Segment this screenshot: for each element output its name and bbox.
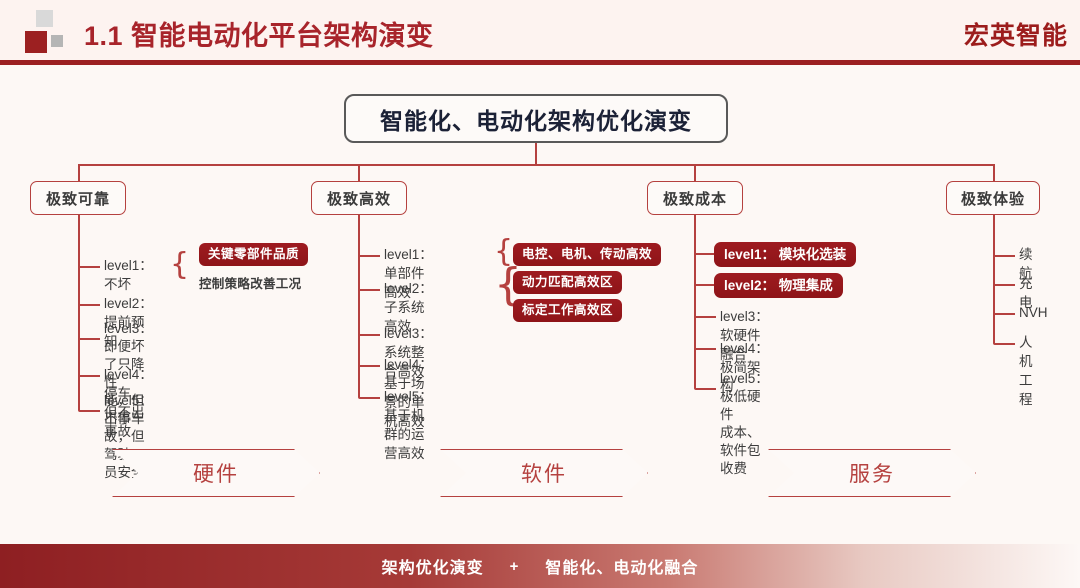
category-box-reliability: 极致可靠 [30, 181, 126, 215]
brand-logo-text: 宏英智能 [964, 16, 1068, 52]
connector-branch-1 [78, 164, 80, 181]
footer-plus-sign: + [510, 558, 520, 575]
slide-footer: 架构优化演变 + 智能化、电动化融合 [0, 544, 1080, 588]
footer-content: 架构优化演变 + 智能化、电动化融合 [0, 544, 1080, 588]
level-item: level5： 基于机群的运营高效 [384, 387, 433, 463]
tick-2-2 [358, 289, 380, 291]
stem-column-3 [694, 215, 696, 252]
stem-column-2 [358, 215, 360, 257]
tick-2-5 [358, 397, 380, 399]
chevron-service [768, 449, 976, 497]
brace-icon: { [170, 250, 189, 280]
tick-1-1 [78, 266, 100, 268]
tick-1-4 [78, 375, 100, 377]
logo-marks [14, 10, 70, 54]
tick-1-3 [78, 338, 100, 340]
square-gray-small-icon [51, 35, 63, 47]
connector-branch-4 [993, 164, 995, 181]
tick-3-5 [694, 388, 716, 390]
category-box-efficiency: 极致高效 [311, 181, 407, 215]
tick-3-2 [694, 284, 716, 286]
tick-2-3 [358, 334, 380, 336]
connector-branch-2 [358, 164, 360, 181]
badge-power-match-zone: 动力匹配高效区 [513, 271, 622, 294]
level-item: level5： 极低硬件 成本、软件包收费 [720, 370, 769, 478]
category-label-3: 极致成本 [663, 188, 727, 209]
tick-4-1 [993, 255, 1015, 257]
chevron-software [440, 449, 648, 497]
tick-4-2 [993, 284, 1015, 286]
slide-root: 1.1 智能电动化平台架构演变 宏英智能 智能化、电动化架构优化演变 极致可靠 … [0, 0, 1080, 588]
category-box-experience: 极致体验 [946, 181, 1040, 215]
level-item-highlighted: level1： 模块化选装 [714, 242, 856, 267]
slide-header: 1.1 智能电动化平台架构演变 宏英智能 [0, 0, 1080, 64]
footer-left-text: 架构优化演变 [382, 554, 484, 578]
spine-3 [694, 250, 696, 388]
category-label-1: 极致可靠 [46, 188, 110, 209]
connector-horizontal-bus [78, 164, 995, 166]
tick-3-3 [694, 316, 716, 318]
footer-right-text: 智能化、电动化融合 [545, 554, 698, 578]
root-node-label: 智能化、电动化架构优化演变 [380, 102, 692, 136]
level-item: 人机工程 [1019, 333, 1033, 409]
page-title: 1.1 智能电动化平台架构演变 [84, 14, 434, 53]
square-gray-top-icon [36, 10, 53, 27]
connector-branch-3 [694, 164, 696, 181]
badge-key-part-quality: 关键零部件品质 [199, 243, 308, 266]
category-label-4: 极致体验 [961, 188, 1025, 209]
badge-calibration-zone: 标定工作高效区 [513, 299, 622, 322]
header-divider [0, 60, 1080, 65]
stem-column-1 [78, 215, 80, 260]
tick-1-5 [78, 410, 100, 412]
spine-2 [358, 255, 360, 397]
category-box-cost: 极致成本 [647, 181, 743, 215]
level-item-highlighted: level2： 物理集成 [714, 273, 843, 298]
note-control-strategy: 控制策略改善工况 [199, 273, 301, 292]
square-red-icon [25, 31, 47, 53]
tick-3-4 [694, 348, 716, 350]
tick-3-1 [694, 253, 716, 255]
tick-1-2 [78, 304, 100, 306]
tick-4-3 [993, 313, 1015, 315]
level-item: level1： 不坏 [104, 256, 153, 294]
root-node-box: 智能化、电动化架构优化演变 [344, 94, 728, 143]
level-item: NVH [1019, 303, 1048, 322]
tick-2-4 [358, 365, 380, 367]
category-label-2: 极致高效 [327, 188, 391, 209]
chevron-hardware [112, 449, 320, 497]
tick-2-1 [358, 255, 380, 257]
spine-1 [78, 258, 80, 410]
badge-drive-efficiency: 电控、电机、传动高效 [513, 243, 661, 266]
connector-root-vertical [535, 143, 537, 165]
stem-column-4 [993, 215, 995, 255]
tick-4-4 [993, 343, 1015, 345]
spine-4 [993, 255, 995, 343]
